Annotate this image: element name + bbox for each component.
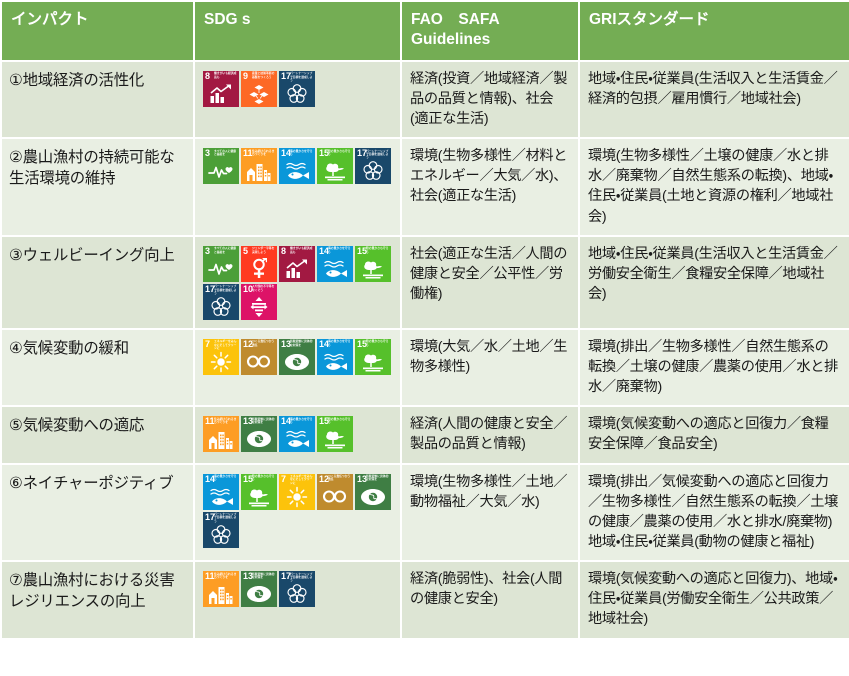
sdg-icons-cell: 11住み続けられるまちづくりを13気候変動に具体的な対策を14海の豊かさを守ろう… — [195, 407, 400, 462]
table-row: ⑦農山漁村における災害レジリエンスの向上11住み続けられるまちづくりを13気候変… — [2, 562, 849, 637]
sdg-caption: パートナーシップで目標を達成しよう — [290, 72, 314, 82]
sdg-icon-11: 11住み続けられるまちづくりを — [203, 416, 239, 452]
fao-safa-cell: 環境(生物多様性／土地／動物福祉／大気／水) — [402, 465, 578, 561]
gri-standard-text: 環境(排出／気候変動への適応と回復力／生物多様性／自然生態系の転換／土壌の健康／… — [588, 472, 841, 532]
sdg-icon-group: 7エネルギーをみんなにそしてクリーンに12つくる責任つかう責任13気候変動に具体… — [203, 339, 395, 375]
sdg-caption: パートナーシップで目標を達成しよう — [290, 573, 314, 583]
health-wellbeing-icon — [203, 160, 239, 182]
sdg-icon-15: 15陸の豊かさも守ろう — [241, 474, 277, 510]
sdg-caption: 気候変動に具体的な対策を — [366, 475, 390, 482]
life-on-land-icon — [317, 428, 353, 450]
climate-action-icon — [279, 351, 315, 373]
sdg-icons-cell: 7エネルギーをみんなにそしてクリーンに12つくる責任つかう責任13気候変動に具体… — [195, 330, 400, 405]
fao-safa-cell: 経済(人間の健康と安全／製品の品質と情報) — [402, 407, 578, 462]
sdg-icon-11: 11住み続けられるまちづくりを — [241, 148, 277, 184]
sdg-caption: 住み続けられるまちづくりを — [214, 573, 238, 580]
gri-standard-text: 環境(生物多様性／土壌の健康／水と排水／廃棄物／自然生態系の転換)、地域・住民・… — [588, 146, 841, 227]
sdg-icon-8: 8働きがいも経済成長も — [203, 71, 239, 107]
sdg-icon-8: 8働きがいも経済成長も — [279, 246, 315, 282]
sdg-number: 7 — [281, 475, 286, 484]
decent-work-icon — [203, 83, 239, 105]
table-row: ⑥ネイチャーポジティブ14海の豊かさを守ろう15陸の豊かさも守ろう7エネルギーを… — [2, 465, 849, 561]
gri-standard-cell: 地域・住民・従業員(生活収入と生活賃金／経済的包摂／雇用慣行／地域社会) — [580, 62, 849, 137]
sdg-icon-7: 7エネルギーをみんなにそしてクリーンに — [279, 474, 315, 510]
fao-safa-cell: 環境(生物多様性／材料とエネルギー／大気／水)、社会(適正な生活) — [402, 139, 578, 235]
partnerships-icon — [355, 160, 391, 182]
gri-standard-cell: 環境(排出／気候変動への適応と回復力／生物多様性／自然生態系の転換／土壌の健康／… — [580, 465, 849, 561]
sustainable-cities-icon — [241, 160, 277, 182]
gri-standard-cell: 環境(気候変動への適応と回復力)、地域・住民・従業員(労働安全衛生／公共政策／地… — [580, 562, 849, 637]
gri-standard-cell: 環境(排出／生物多様性／自然生態系の転換／土壌の健康／農薬の使用／水と排水／廃棄… — [580, 330, 849, 405]
table-header: インパクト SDG s FAO SAFA Guidelines GRIスタンダー… — [2, 2, 849, 60]
fao-safa-text: 経済(投資／地域経済／製品の品質と情報)、社会(適正な生活) — [410, 69, 570, 129]
sdg-caption: 海の豊かさを守ろう — [214, 475, 238, 482]
life-below-water-icon — [279, 160, 315, 182]
clean-energy-icon — [203, 351, 239, 373]
fao-safa-text: 環境(大気／水／土地／生物多様性) — [410, 337, 570, 377]
gri-standard-text: 地域・住民・従業員(生活収入と生活賃金／労働安全衛生／食糧安全保障／地域社会) — [588, 244, 841, 304]
sdg-caption: 気候変動に具体的な対策を — [252, 418, 276, 425]
sdg-caption: つくる責任つかう責任 — [252, 340, 276, 347]
fao-safa-text: 経済(人間の健康と安全／製品の品質と情報) — [410, 414, 570, 454]
sdg-caption: 海の豊かさを守ろう — [328, 340, 352, 347]
fao-safa-text: 経済(脆弱性)、社会(人間の健康と安全) — [410, 569, 570, 609]
impact-cell: ③ウェルビーイング向上 — [2, 237, 193, 328]
column-header-fao-safa-guidelines: FAO SAFA Guidelines — [402, 2, 578, 60]
sdg-icon-group: 11住み続けられるまちづくりを13気候変動に具体的な対策を17パートナーシップで… — [203, 571, 395, 607]
sdg-caption: エネルギーをみんなにそしてクリーンに — [214, 340, 238, 350]
industry-innovation-icon — [241, 83, 277, 105]
clean-energy-icon — [279, 486, 315, 508]
sdg-caption: 陸の豊かさも守ろう — [366, 340, 390, 347]
table-row: ③ウェルビーイング向上3すべての人に健康と福祉を5ジェンダー平等を実現しよう8働… — [2, 237, 849, 328]
sdg-caption: 陸の豊かさも守ろう — [328, 418, 352, 425]
sdg-icon-17: 17パートナーシップで目標を達成しよう — [279, 571, 315, 607]
sdg-caption: 陸の豊かさも守ろう — [366, 247, 390, 254]
life-on-land-icon — [355, 258, 391, 280]
sdg-icon-14: 14海の豊かさを守ろう — [317, 246, 353, 282]
fao-safa-text: 環境(生物多様性／材料とエネルギー／大気／水)、社会(適正な生活) — [410, 146, 570, 206]
sdg-caption: 人や国の不平等をなくそう — [252, 285, 276, 292]
life-on-land-icon — [241, 486, 277, 508]
header-row: インパクト SDG s FAO SAFA Guidelines GRIスタンダー… — [2, 2, 849, 60]
sdg-caption: 住み続けられるまちづくりを — [214, 418, 238, 425]
sdg-caption: 海の豊かさを守ろう — [328, 247, 352, 254]
sdg-caption: 産業と技術革新の基盤をつくろう — [252, 72, 276, 79]
sdg-icon-14: 14海の豊かさを守ろう — [203, 474, 239, 510]
fao-safa-cell: 経済(投資／地域経済／製品の品質と情報)、社会(適正な生活) — [402, 62, 578, 137]
gri-standard-text: 環境(気候変動への適応と回復力)、地域・住民・従業員(労働安全衛生／公共政策／地… — [588, 569, 841, 629]
sdg-icon-group: 8働きがいも経済成長も9産業と技術革新の基盤をつくろう17パートナーシップで目標… — [203, 71, 395, 107]
sdg-caption: パートナーシップで目標を達成しよう — [214, 285, 238, 295]
fao-safa-text: 環境(生物多様性／土地／動物福祉／大気／水) — [410, 472, 570, 512]
impact-cell: ⑤気候変動への適応 — [2, 407, 193, 462]
sdg-caption: 海の豊かさを守ろう — [290, 150, 314, 157]
health-wellbeing-icon — [203, 258, 239, 280]
gri-standard-text: 環境(排出／生物多様性／自然生態系の転換／土壌の健康／農薬の使用／水と排水／廃棄… — [588, 337, 841, 397]
sdg-icon-15: 15陸の豊かさも守ろう — [355, 246, 391, 282]
sdg-number: 3 — [205, 149, 210, 158]
decent-work-icon — [279, 258, 315, 280]
fao-safa-cell: 社会(適正な生活／人間の健康と安全／公平性／労働権) — [402, 237, 578, 328]
reduced-inequalities-icon — [241, 296, 277, 318]
sdg-caption: パートナーシップで目標を達成しよう — [366, 150, 390, 160]
table-row: ②農山漁村の持続可能な生活環境の維持3すべての人に健康と福祉を11住み続けられる… — [2, 139, 849, 235]
sdg-icon-17: 17パートナーシップで目標を達成しよう — [203, 512, 239, 548]
sdg-icon-10: 10人や国の不平等をなくそう — [241, 284, 277, 320]
sdg-caption: 働きがいも経済成長も — [290, 247, 314, 254]
sdg-number: 3 — [205, 247, 210, 256]
sdg-icon-group: 14海の豊かさを守ろう15陸の豊かさも守ろう7エネルギーをみんなにそしてクリーン… — [203, 474, 395, 548]
partnerships-icon — [203, 296, 239, 318]
partnerships-icon — [279, 583, 315, 605]
sdg-icons-cell: 14海の豊かさを守ろう15陸の豊かさも守ろう7エネルギーをみんなにそしてクリーン… — [195, 465, 400, 561]
sdg-icon-15: 15陸の豊かさも守ろう — [317, 148, 353, 184]
sdg-caption: 気候変動に具体的な対策を — [252, 573, 276, 580]
sdg-caption: すべての人に健康と福祉を — [214, 150, 238, 157]
climate-action-icon — [241, 583, 277, 605]
sdg-number: 7 — [205, 340, 210, 349]
gri-standard-text-secondary: 地域・住民・従業員(動物の健康と福祉) — [588, 532, 841, 552]
sdg-icons-cell: 11住み続けられるまちづくりを13気候変動に具体的な対策を17パートナーシップで… — [195, 562, 400, 637]
life-below-water-icon — [279, 428, 315, 450]
sdg-icon-12: 12つくる責任つかう責任 — [241, 339, 277, 375]
sdg-icon-13: 13気候変動に具体的な対策を — [241, 571, 277, 607]
column-header-impact: インパクト — [2, 2, 193, 60]
sdg-caption: 働きがいも経済成長も — [214, 72, 238, 79]
responsible-consumption-icon — [241, 351, 277, 373]
gender-equality-icon — [241, 258, 277, 280]
sdg-icon-group: 11住み続けられるまちづくりを13気候変動に具体的な対策を14海の豊かさを守ろう… — [203, 416, 395, 452]
sdg-caption: 陸の豊かさも守ろう — [328, 150, 352, 157]
life-below-water-icon — [317, 258, 353, 280]
sdg-icon-17: 17パートナーシップで目標を達成しよう — [279, 71, 315, 107]
column-header-gri-standard: GRIスタンダード — [580, 2, 849, 60]
life-below-water-icon — [317, 351, 353, 373]
sdg-icon-13: 13気候変動に具体的な対策を — [279, 339, 315, 375]
sdg-caption: つくる責任つかう責任 — [328, 475, 352, 482]
sdg-icons-cell: 3すべての人に健康と福祉を5ジェンダー平等を実現しよう8働きがいも経済成長も14… — [195, 237, 400, 328]
sdg-icon-13: 13気候変動に具体的な対策を — [355, 474, 391, 510]
climate-action-icon — [355, 486, 391, 508]
sdg-icon-15: 15陸の豊かさも守ろう — [317, 416, 353, 452]
sustainable-cities-icon — [203, 428, 239, 450]
sdg-number: 9 — [243, 72, 248, 81]
life-below-water-icon — [203, 486, 239, 508]
sdg-icons-cell: 3すべての人に健康と福祉を11住み続けられるまちづくりを14海の豊かさを守ろう1… — [195, 139, 400, 235]
gri-standard-text: 環境(気候変動への適応と回復力／食糧安全保障／食品安全) — [588, 414, 841, 454]
sdg-caption: 気候変動に具体的な対策を — [290, 340, 314, 347]
sdg-icons-cell: 8働きがいも経済成長も9産業と技術革新の基盤をつくろう17パートナーシップで目標… — [195, 62, 400, 137]
table-row: ①地域経済の活性化8働きがいも経済成長も9産業と技術革新の基盤をつくろう17パー… — [2, 62, 849, 137]
sdg-caption: エネルギーをみんなにそしてクリーンに — [290, 475, 314, 485]
sdg-impact-mapping-table: インパクト SDG s FAO SAFA Guidelines GRIスタンダー… — [0, 0, 849, 640]
sdg-caption: 陸の豊かさも守ろう — [252, 475, 276, 482]
sdg-caption: パートナーシップで目標を達成しよう — [214, 513, 238, 523]
sdg-caption: ジェンダー平等を実現しよう — [252, 247, 276, 254]
gri-standard-cell: 環境(生物多様性／土壌の健康／水と排水／廃棄物／自然生態系の転換)、地域・住民・… — [580, 139, 849, 235]
impact-cell: ⑥ネイチャーポジティブ — [2, 465, 193, 561]
sdg-icon-11: 11住み続けられるまちづくりを — [203, 571, 239, 607]
table-row: ⑤気候変動への適応11住み続けられるまちづくりを13気候変動に具体的な対策を14… — [2, 407, 849, 462]
life-on-land-icon — [355, 351, 391, 373]
gri-standard-text: 地域・住民・従業員(生活収入と生活賃金／経済的包摂／雇用慣行／地域社会) — [588, 69, 841, 109]
impact-cell: ④気候変動の緩和 — [2, 330, 193, 405]
sdg-caption: 海の豊かさを守ろう — [290, 418, 314, 425]
partnerships-icon — [279, 83, 315, 105]
sdg-number: 8 — [205, 72, 210, 81]
sdg-icon-14: 14海の豊かさを守ろう — [279, 148, 315, 184]
column-header-sdg: SDG s — [195, 2, 400, 60]
sdg-caption: 住み続けられるまちづくりを — [252, 150, 276, 157]
sdg-icon-17: 17パートナーシップで目標を達成しよう — [355, 148, 391, 184]
sdg-caption: すべての人に健康と福祉を — [214, 247, 238, 254]
table-body: ①地域経済の活性化8働きがいも経済成長も9産業と技術革新の基盤をつくろう17パー… — [2, 62, 849, 638]
sustainable-cities-icon — [203, 583, 239, 605]
partnerships-icon — [203, 524, 239, 546]
fao-safa-text: 社会(適正な生活／人間の健康と安全／公平性／労働権) — [410, 244, 570, 304]
sdg-icon-3: 3すべての人に健康と福祉を — [203, 148, 239, 184]
gri-standard-cell: 環境(気候変動への適応と回復力／食糧安全保障／食品安全) — [580, 407, 849, 462]
fao-safa-cell: 環境(大気／水／土地／生物多様性) — [402, 330, 578, 405]
sdg-icon-9: 9産業と技術革新の基盤をつくろう — [241, 71, 277, 107]
sdg-icon-13: 13気候変動に具体的な対策を — [241, 416, 277, 452]
sdg-number: 8 — [281, 247, 286, 256]
impact-cell: ⑦農山漁村における災害レジリエンスの向上 — [2, 562, 193, 637]
impact-cell: ①地域経済の活性化 — [2, 62, 193, 137]
fao-safa-cell: 経済(脆弱性)、社会(人間の健康と安全) — [402, 562, 578, 637]
sdg-icon-group: 3すべての人に健康と福祉を11住み続けられるまちづくりを14海の豊かさを守ろう1… — [203, 148, 395, 184]
life-on-land-icon — [317, 160, 353, 182]
impact-cell: ②農山漁村の持続可能な生活環境の維持 — [2, 139, 193, 235]
sdg-number: 5 — [243, 247, 248, 256]
sdg-icon-17: 17パートナーシップで目標を達成しよう — [203, 284, 239, 320]
sdg-icon-14: 14海の豊かさを守ろう — [317, 339, 353, 375]
sdg-icon-7: 7エネルギーをみんなにそしてクリーンに — [203, 339, 239, 375]
responsible-consumption-icon — [317, 486, 353, 508]
sdg-icon-3: 3すべての人に健康と福祉を — [203, 246, 239, 282]
sdg-icon-15: 15陸の豊かさも守ろう — [355, 339, 391, 375]
sdg-icon-5: 5ジェンダー平等を実現しよう — [241, 246, 277, 282]
sdg-icon-14: 14海の豊かさを守ろう — [279, 416, 315, 452]
sdg-icon-group: 3すべての人に健康と福祉を5ジェンダー平等を実現しよう8働きがいも経済成長も14… — [203, 246, 395, 320]
sdg-icon-12: 12つくる責任つかう責任 — [317, 474, 353, 510]
climate-action-icon — [241, 428, 277, 450]
table-row: ④気候変動の緩和7エネルギーをみんなにそしてクリーンに12つくる責任つかう責任1… — [2, 330, 849, 405]
gri-standard-cell: 地域・住民・従業員(生活収入と生活賃金／労働安全衛生／食糧安全保障／地域社会) — [580, 237, 849, 328]
